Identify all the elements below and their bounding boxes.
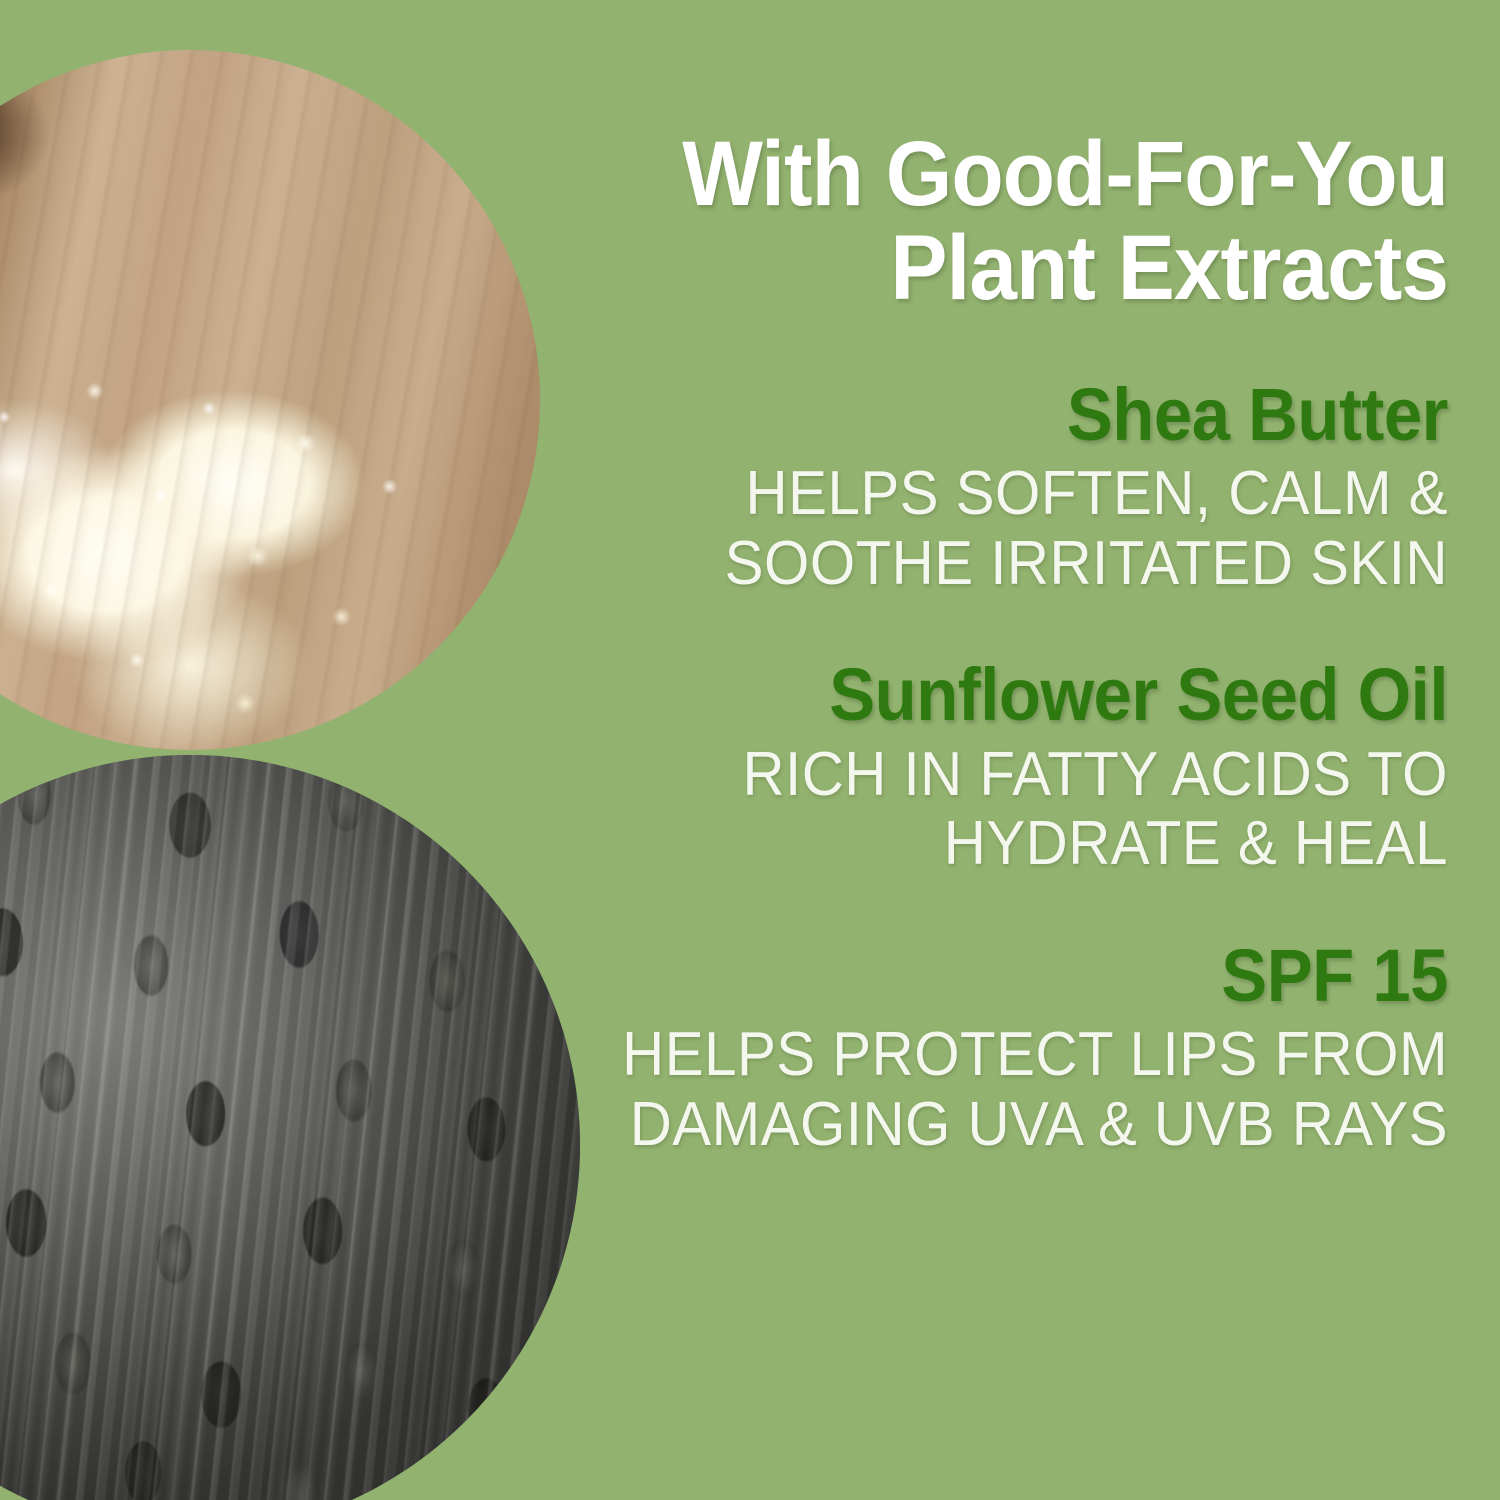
sunflower-seeds-photo	[0, 755, 580, 1500]
benefit-description-shea-butter: HELPS SOFTEN, CALM & SOOTHE IRRITATED SK…	[602, 459, 1448, 598]
page-title: With Good-For-You Plant Extracts	[611, 0, 1448, 316]
benefit-desc-line: HELPS PROTECT LIPS FROM	[602, 1020, 1448, 1089]
shea-butter-texture	[0, 365, 498, 750]
seed-vignette	[0, 755, 580, 1500]
benefit-title-shea-butter: Shea Butter	[611, 376, 1448, 454]
benefit-description-spf-15: HELPS PROTECT LIPS FROM DAMAGING UVA & U…	[602, 1020, 1448, 1159]
benefit-spf-15: SPF 15 HELPS PROTECT LIPS FROM DAMAGING …	[548, 937, 1448, 1160]
ingredient-benefits-infographic: With Good-For-You Plant Extracts Shea Bu…	[0, 0, 1500, 1500]
benefit-desc-line: DAMAGING UVA & UVB RAYS	[602, 1090, 1448, 1159]
copy-column: With Good-For-You Plant Extracts Shea Bu…	[548, 0, 1448, 1500]
benefit-title-sunflower-seed-oil: Sunflower Seed Oil	[611, 656, 1448, 734]
benefit-desc-line: HYDRATE & HEAL	[602, 809, 1448, 878]
shea-butter-photo	[0, 50, 540, 750]
benefit-sunflower-seed-oil: Sunflower Seed Oil RICH IN FATTY ACIDS T…	[548, 656, 1448, 879]
headline-line-2: Plant Extracts	[611, 222, 1448, 316]
benefit-title-spf-15: SPF 15	[611, 937, 1448, 1015]
benefit-desc-line: HELPS SOFTEN, CALM &	[602, 459, 1448, 528]
headline-line-1: With Good-For-You	[611, 128, 1448, 222]
benefit-desc-line: SOOTHE IRRITATED SKIN	[602, 529, 1448, 598]
benefit-description-sunflower-seed-oil: RICH IN FATTY ACIDS TO HYDRATE & HEAL	[602, 740, 1448, 879]
benefit-shea-butter: Shea Butter HELPS SOFTEN, CALM & SOOTHE …	[548, 376, 1448, 599]
benefit-desc-line: RICH IN FATTY ACIDS TO	[602, 740, 1448, 809]
